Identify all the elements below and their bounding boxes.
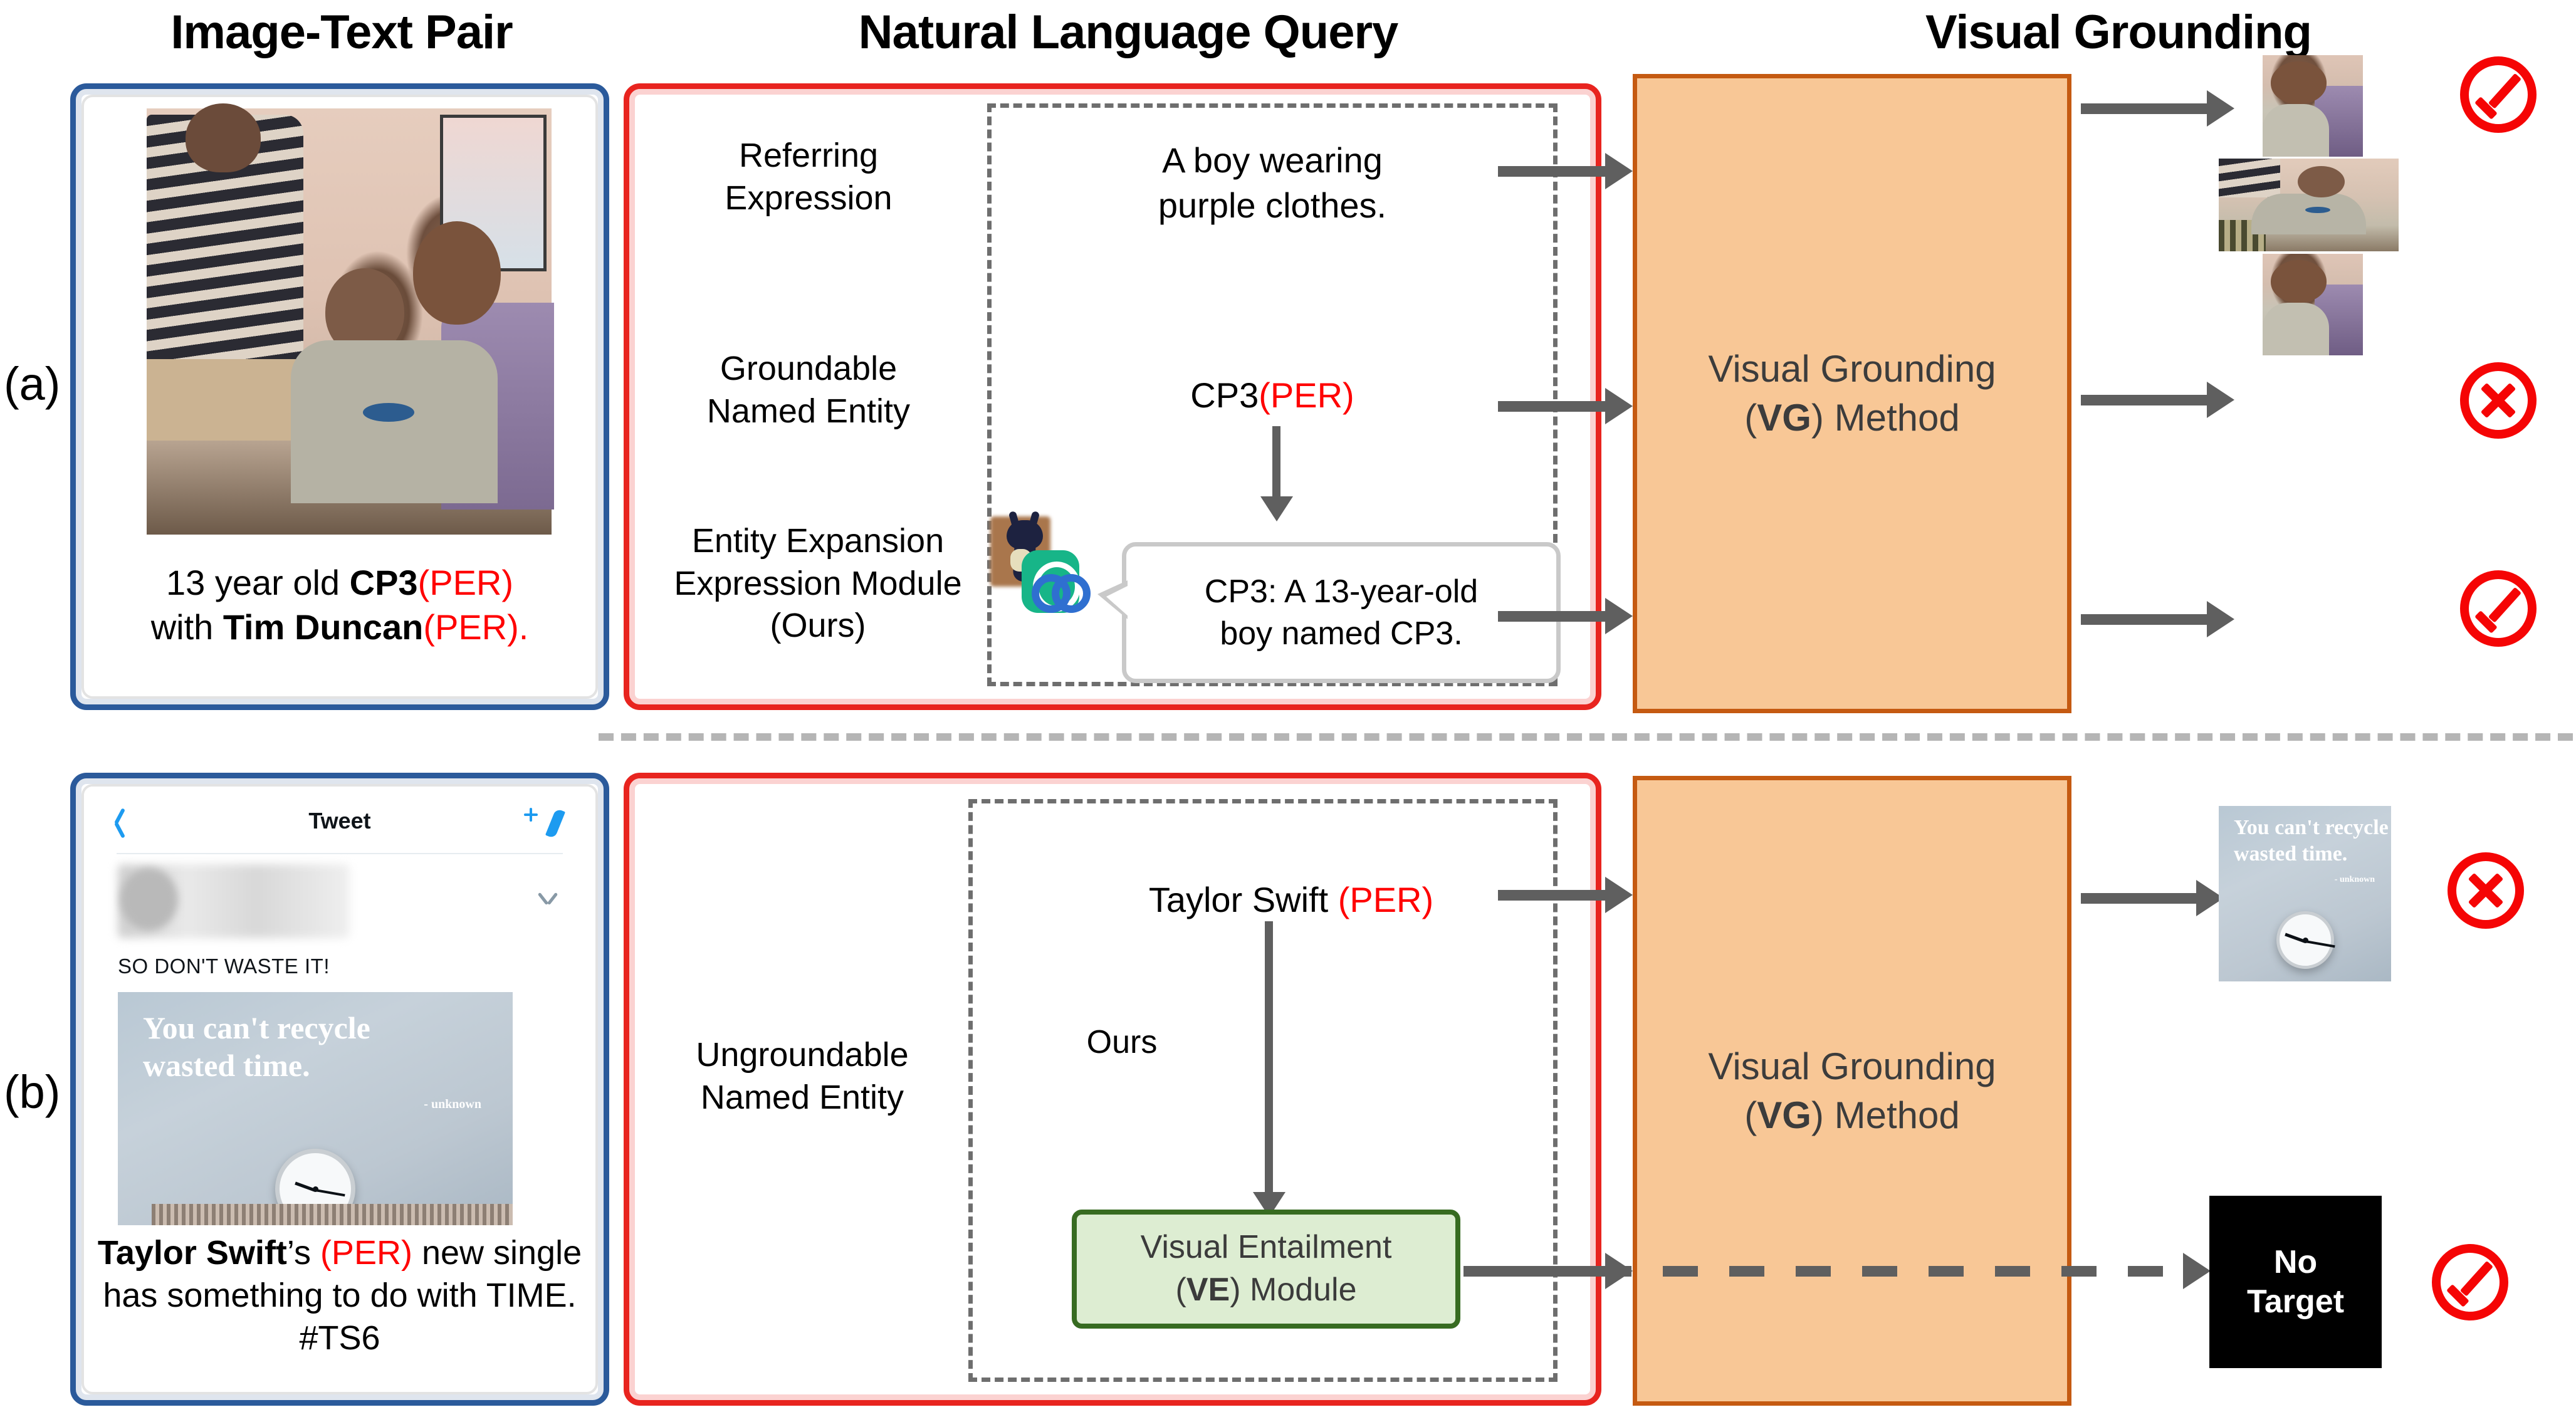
no-target-result-box: No Target xyxy=(2209,1196,2382,1368)
query-entity-tag: (PER) xyxy=(1259,375,1354,415)
query-entity-tag-b: (PER) xyxy=(1338,880,1433,919)
verdict-check-icon-a1 xyxy=(2460,56,2537,133)
label-ours: Ours xyxy=(1028,1022,1216,1064)
caption-row-a: 13 year old CP3(PER) with Tim Duncan(PER… xyxy=(97,561,583,649)
visual-entailment-module-box: Visual Entailment (VE) Module xyxy=(1072,1210,1460,1329)
verdict-cross-icon-a2 xyxy=(2460,362,2537,439)
avatar xyxy=(120,868,178,931)
image-text-pair-card-a: 13 year old CP3(PER) with Tim Duncan(PER… xyxy=(70,83,609,710)
tweet-media-quote-line2: wasted time. xyxy=(143,1047,310,1084)
tweet-media-attribution: - unknown xyxy=(424,1097,481,1112)
header-image-text-pair: Image-Text Pair xyxy=(94,5,589,60)
result-thumbnail-duncan xyxy=(2219,159,2399,251)
vg-box-a-line2: (VG) Method xyxy=(1708,394,1996,442)
striped-shirt-person-head xyxy=(186,103,261,172)
tweet-media-image: You can't recycle wasted time. - unknown xyxy=(118,992,513,1225)
khaki-shorts xyxy=(147,359,303,453)
vg-box-b-line2: (VG) Method xyxy=(1708,1091,1996,1140)
query-groundable-entity: CP3(PER) xyxy=(1034,373,1511,418)
query-entity-name-b: Taylor Swift xyxy=(1149,880,1338,919)
label-ungroundable-named-entity: Ungroundable Named Entity xyxy=(639,1034,965,1119)
verdict-cross-icon-b1 xyxy=(2448,852,2524,929)
no-target-line1: No xyxy=(2247,1243,2344,1282)
expansion-speech-bubble: CP3: A 13-year-old boy named CP3. xyxy=(1122,542,1561,683)
label-referring-expression: Referring Expression xyxy=(646,135,971,219)
chevron-down-icon[interactable] xyxy=(539,889,558,908)
caption-row-a-line2: with Tim Duncan(PER). xyxy=(97,605,583,650)
tweet-title: Tweet xyxy=(84,808,595,834)
caption-row-b: Taylor Swift’s (PER) new single has some… xyxy=(97,1231,583,1359)
compose-tweet-icon[interactable] xyxy=(524,805,560,840)
visual-grounding-method-box-a: Visual Grounding (VG) Method xyxy=(1633,74,2071,713)
tweet-media-quote-line1: You can't recycle xyxy=(143,1010,370,1046)
label-referring-expression-line1: Referring xyxy=(646,135,971,177)
row-separator xyxy=(599,733,2573,741)
verdict-check-icon-b2 xyxy=(2432,1244,2508,1320)
header-visual-grounding: Visual Grounding xyxy=(1805,5,2432,60)
header-natural-language-query: Natural Language Query xyxy=(715,5,1542,60)
query-entity-name: CP3 xyxy=(1190,375,1259,415)
label-ungroundable-line2: Named Entity xyxy=(639,1077,965,1119)
label-module-line3: (Ours) xyxy=(627,605,1009,647)
result-thumb-attribution: - unknown xyxy=(2335,875,2375,885)
query-referring-expression: A boy wearing purple clothes. xyxy=(1034,138,1511,227)
no-target-line2: Target xyxy=(2247,1282,2344,1321)
label-entity-expansion-module: Entity Expansion Expression Module (Ours… xyxy=(627,520,1009,647)
label-referring-expression-line2: Expression xyxy=(646,177,971,220)
ve-box-line2: (VE) Module xyxy=(1077,1269,1455,1312)
query-referring-line1: A boy wearing xyxy=(1034,138,1511,183)
query-ungroundable-entity: Taylor Swift (PER) xyxy=(1022,877,1561,923)
shirt-logo xyxy=(363,403,414,422)
bubble-line2: boy named CP3. xyxy=(1140,613,1542,655)
ve-box-line1: Visual Entailment xyxy=(1077,1226,1455,1269)
llama-model-icon xyxy=(985,514,1086,614)
tweet-divider xyxy=(117,853,563,854)
bubble-line1: CP3: A 13-year-old xyxy=(1140,571,1542,613)
image-text-pair-card-b: Tweet SO DON'T WASTE IT! You can't recyc… xyxy=(70,773,609,1406)
result-thumbnail-cp3-1 xyxy=(2263,55,2363,157)
row-label-b: (b) xyxy=(4,1065,60,1119)
query-referring-line2: purple clothes. xyxy=(1034,183,1511,228)
label-groundable-line2: Named Entity xyxy=(646,390,971,433)
label-ungroundable-line1: Ungroundable xyxy=(639,1034,965,1077)
tweet-top-bar: Tweet xyxy=(84,798,595,847)
caption-row-a-line1: 13 year old CP3(PER) xyxy=(97,561,583,605)
label-groundable-line1: Groundable xyxy=(646,348,971,390)
result-thumb-quote-line1: You can't recycle xyxy=(2234,816,2389,840)
label-module-line2: Expression Module xyxy=(627,563,1009,605)
tweet-media-footer xyxy=(152,1204,513,1225)
vg-box-a-line1: Visual Grounding xyxy=(1708,345,1996,394)
photo-cp3-duncan xyxy=(147,108,552,535)
tweet-body-text: SO DON'T WASTE IT! xyxy=(118,954,330,978)
vg-box-b-line1: Visual Grounding xyxy=(1708,1042,1996,1091)
verdict-check-icon-a3 xyxy=(2460,570,2537,647)
visual-grounding-method-box-b: Visual Grounding (VG) Method xyxy=(1633,776,2071,1406)
column-headers: Image-Text Pair Natural Language Query V… xyxy=(0,0,2576,74)
result-thumbnail-quote-image: You can't recycle wasted time. - unknown xyxy=(2219,806,2391,981)
wall-clock-icon-small xyxy=(2276,911,2334,969)
label-groundable-named-entity: Groundable Named Entity xyxy=(646,348,971,432)
image-text-pair-card-a-inner: 13 year old CP3(PER) with Tim Duncan(PER… xyxy=(81,95,598,699)
gray-shirt xyxy=(291,340,498,503)
image-text-pair-card-b-inner: Tweet SO DON'T WASTE IT! You can't recyc… xyxy=(81,784,598,1394)
cp3-head xyxy=(413,221,501,325)
result-thumb-quote-line2: wasted time. xyxy=(2234,842,2347,866)
label-module-line1: Entity Expansion xyxy=(627,520,1009,563)
result-thumbnail-cp3-2 xyxy=(2263,254,2363,355)
tweet-screenshot: Tweet SO DON'T WASTE IT! You can't recyc… xyxy=(84,787,595,1225)
row-label-a: (a) xyxy=(4,357,60,410)
